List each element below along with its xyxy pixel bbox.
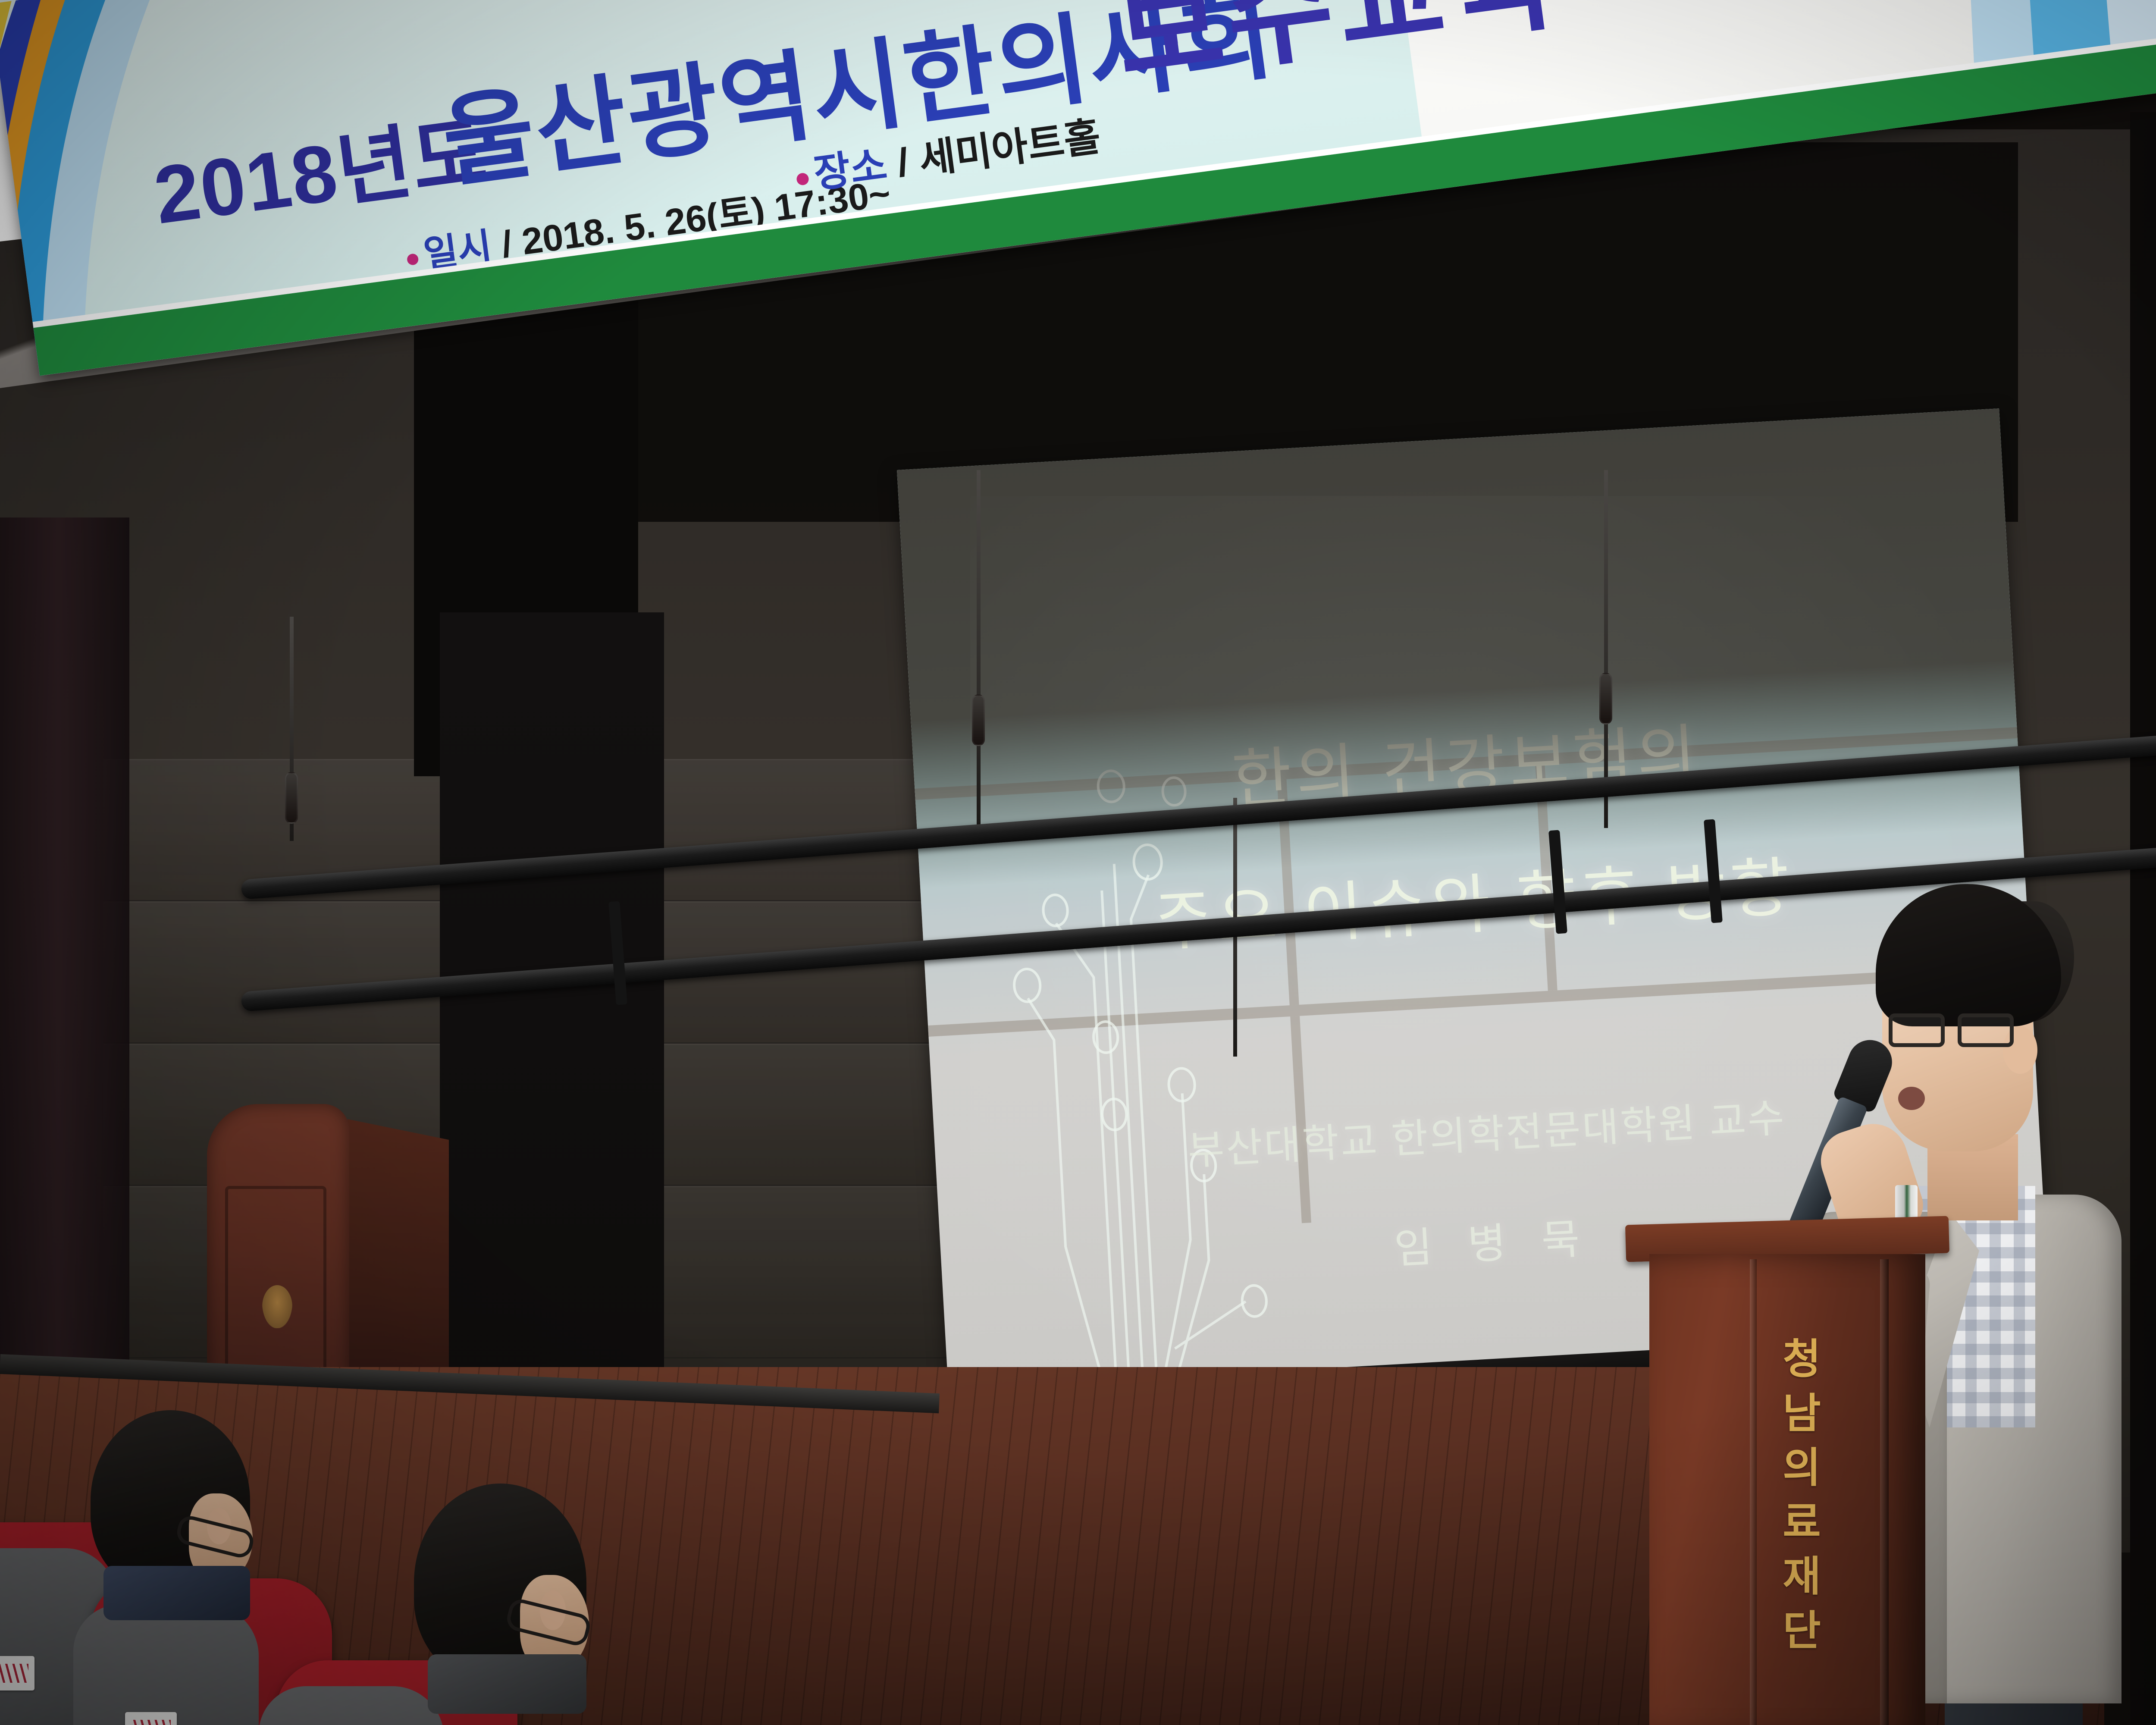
speaker-mouth xyxy=(1898,1087,1925,1110)
seat-reserved-label xyxy=(0,1656,34,1690)
bullet-dot-icon xyxy=(796,172,809,185)
podium-engraved-text: 청남의료재단 xyxy=(1768,1337,1828,1663)
seat-reserved-label xyxy=(125,1712,177,1725)
attendee-collar xyxy=(103,1566,250,1620)
rail-turnbuckle xyxy=(1599,673,1612,724)
rail-hanger-wire xyxy=(1604,470,1608,828)
podium-corner-molding xyxy=(1880,1259,1889,1725)
seat-shell xyxy=(259,1686,444,1725)
rail-turnbuckle xyxy=(285,772,298,824)
lectern-crest-icon xyxy=(262,1285,292,1328)
seat-shell xyxy=(73,1604,259,1725)
bullet-dot-icon xyxy=(407,253,419,266)
slide-top-shadow xyxy=(897,408,2022,889)
attendee-head xyxy=(414,1483,586,1682)
podium-corner-molding xyxy=(1750,1259,1757,1725)
rail-hanger-wire xyxy=(977,470,981,841)
banner-venue-label: 장소 xyxy=(812,143,890,196)
photo-scene: 한의 건강보험의 주요 이슈와 향후 방향 부산대학교 한의학전문대학원 교수 … xyxy=(0,0,2156,1725)
attendee-head xyxy=(91,1410,250,1591)
rail-turnbuckle xyxy=(972,694,985,746)
main-podium: 청남의료재단 xyxy=(1639,1220,1949,1725)
attendee-collar xyxy=(428,1654,586,1714)
audience-seating xyxy=(0,1419,768,1725)
eyeglasses-icon xyxy=(1889,1013,2018,1048)
banner-title: 보수교육 xyxy=(1104,0,1568,108)
